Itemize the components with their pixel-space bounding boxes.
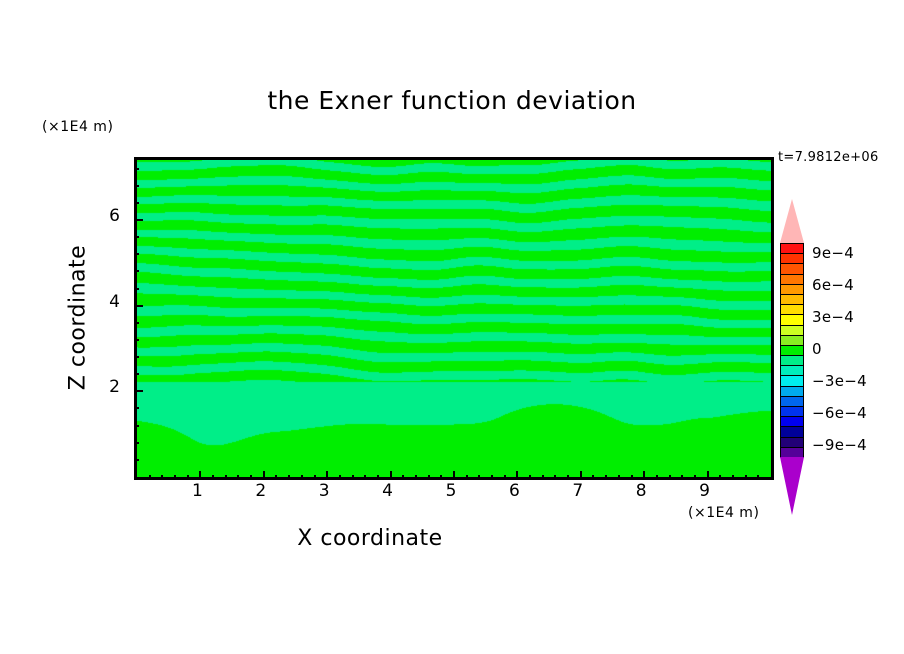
y-tick-minor: [134, 322, 139, 324]
contour-field-canvas: [137, 160, 771, 477]
y-tick-minor: [134, 288, 139, 290]
y-tick-minor: [134, 459, 139, 461]
x-tick-minor: [757, 475, 759, 480]
contour-plot-area: [134, 157, 774, 480]
colorbar: [780, 243, 804, 457]
y-tick-label: 2: [96, 377, 120, 397]
x-tick-major: [516, 471, 518, 480]
colorbar-tick-label: 6e−4: [812, 276, 854, 294]
y-tick-minor: [134, 373, 139, 375]
x-tick-label: 1: [182, 481, 212, 501]
x-tick-minor: [554, 475, 556, 480]
x-tick-minor: [250, 475, 252, 480]
colorbar-over-arrow: [780, 199, 804, 243]
x-tick-label: 5: [436, 481, 466, 501]
x-tick-major: [707, 471, 709, 480]
x-tick-minor: [352, 475, 354, 480]
x-tick-minor: [149, 475, 151, 480]
y-tick-minor: [134, 407, 139, 409]
x-tick-minor: [656, 475, 658, 480]
x-axis-unit-label: (×1E4 m): [688, 505, 759, 521]
x-tick-minor: [237, 475, 239, 480]
x-tick-major: [390, 471, 392, 480]
y-tick-minor: [134, 168, 139, 170]
x-tick-minor: [605, 475, 607, 480]
x-tick-minor: [275, 475, 277, 480]
x-tick-minor: [288, 475, 290, 480]
y-tick-minor: [134, 202, 139, 204]
x-tick-minor: [669, 475, 671, 480]
colorbar-tick-label: −9e−4: [812, 436, 867, 454]
x-tick-label: 8: [626, 481, 656, 501]
x-tick-minor: [681, 475, 683, 480]
timestamp-annotation: t=7.9812e+06: [778, 150, 879, 165]
y-tick-minor: [134, 425, 139, 427]
y-tick-major: [134, 390, 143, 392]
x-tick-minor: [440, 475, 442, 480]
x-tick-minor: [745, 475, 747, 480]
colorbar-tick-label: 3e−4: [812, 308, 854, 326]
x-tick-minor: [478, 475, 480, 480]
y-axis-title: Z coordinate: [66, 218, 91, 418]
x-tick-minor: [592, 475, 594, 480]
x-tick-minor: [491, 475, 493, 480]
x-tick-label: 3: [309, 481, 339, 501]
y-tick-minor: [134, 442, 139, 444]
x-tick-minor: [402, 475, 404, 480]
y-tick-minor: [134, 185, 139, 187]
x-tick-major: [580, 471, 582, 480]
x-tick-minor: [161, 475, 163, 480]
x-tick-major: [263, 471, 265, 480]
y-tick-minor: [134, 236, 139, 238]
x-tick-minor: [174, 475, 176, 480]
colorbar-tick-label: 0: [812, 340, 822, 358]
x-tick-minor: [415, 475, 417, 480]
x-tick-minor: [732, 475, 734, 480]
x-tick-minor: [542, 475, 544, 480]
x-tick-minor: [314, 475, 316, 480]
x-tick-label: 7: [563, 481, 593, 501]
x-tick-minor: [719, 475, 721, 480]
y-tick-label: 4: [96, 292, 120, 312]
x-tick-major: [199, 471, 201, 480]
x-tick-label: 4: [373, 481, 403, 501]
colorbar-tick-label: 9e−4: [812, 244, 854, 262]
colorbar-tick-label: −6e−4: [812, 404, 867, 422]
x-tick-major: [326, 471, 328, 480]
x-tick-minor: [301, 475, 303, 480]
x-tick-major: [453, 471, 455, 480]
x-axis-title: X coordinate: [0, 526, 740, 551]
x-tick-minor: [339, 475, 341, 480]
y-tick-label: 6: [96, 206, 120, 226]
y-tick-minor: [134, 356, 139, 358]
x-tick-label: 6: [499, 481, 529, 501]
x-tick-minor: [212, 475, 214, 480]
colorbar-under-arrow: [780, 457, 804, 515]
x-tick-minor: [377, 475, 379, 480]
colorbar-tick-label: −3e−4: [812, 372, 867, 390]
y-tick-major: [134, 305, 143, 307]
y-tick-minor: [134, 339, 139, 341]
x-tick-minor: [504, 475, 506, 480]
x-tick-major: [643, 471, 645, 480]
x-tick-label: 9: [690, 481, 720, 501]
x-tick-minor: [529, 475, 531, 480]
x-tick-minor: [567, 475, 569, 480]
x-tick-minor: [225, 475, 227, 480]
x-tick-minor: [364, 475, 366, 480]
y-tick-minor: [134, 253, 139, 255]
y-axis-unit-label: (×1E4 m): [42, 119, 113, 135]
chart-title: the Exner function deviation: [0, 86, 904, 115]
y-tick-minor: [134, 270, 139, 272]
x-tick-label: 2: [246, 481, 276, 501]
x-tick-minor: [187, 475, 189, 480]
x-tick-minor: [631, 475, 633, 480]
x-tick-minor: [694, 475, 696, 480]
x-tick-minor: [618, 475, 620, 480]
y-tick-major: [134, 219, 143, 221]
x-tick-minor: [428, 475, 430, 480]
x-tick-minor: [466, 475, 468, 480]
